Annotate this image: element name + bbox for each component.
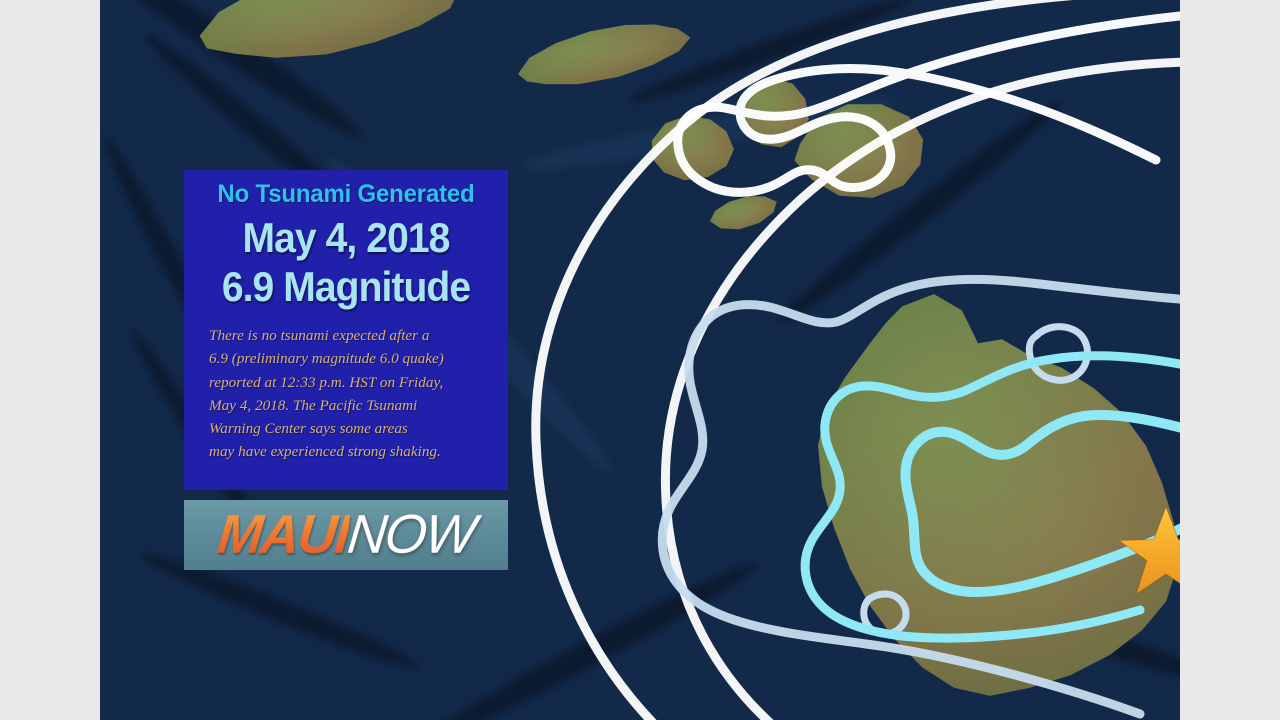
logo-maui-text: MAUI — [215, 505, 351, 565]
body-line: may have experienced strong shaking. — [209, 440, 494, 463]
contour-ring-maui — [678, 16, 1180, 192]
logo-wordmark: MAUINOW — [215, 508, 477, 562]
body-line: There is no tsunami expected after a — [209, 324, 494, 347]
body-description: There is no tsunami expected after a 6.9… — [196, 324, 496, 464]
event-magnitude: 6.9 Magnitude — [207, 263, 486, 310]
event-date: May 4, 2018 — [207, 214, 486, 261]
body-line: May 4, 2018. The Pacific Tsunami — [209, 394, 494, 417]
epicenter-star-marker — [1118, 505, 1180, 597]
body-line: Warning Center says some areas — [209, 417, 494, 440]
star-icon — [1119, 507, 1180, 594]
maui-now-logo[interactable]: MAUINOW — [184, 500, 508, 570]
headline-no-tsunami: No Tsunami Generated — [202, 180, 490, 208]
body-line: reported at 12:33 p.m. HST on Friday, — [209, 371, 494, 394]
info-panel: No Tsunami Generated May 4, 2018 6.9 Mag… — [184, 170, 508, 490]
news-graphic-stage: No Tsunami Generated May 4, 2018 6.9 Mag… — [0, 0, 1280, 720]
body-line: 6.9 (preliminary magnitude 6.0 quake) — [209, 347, 494, 370]
logo-now-text: NOW — [345, 505, 477, 565]
contour-ring-bigisland-outer — [662, 279, 1180, 714]
